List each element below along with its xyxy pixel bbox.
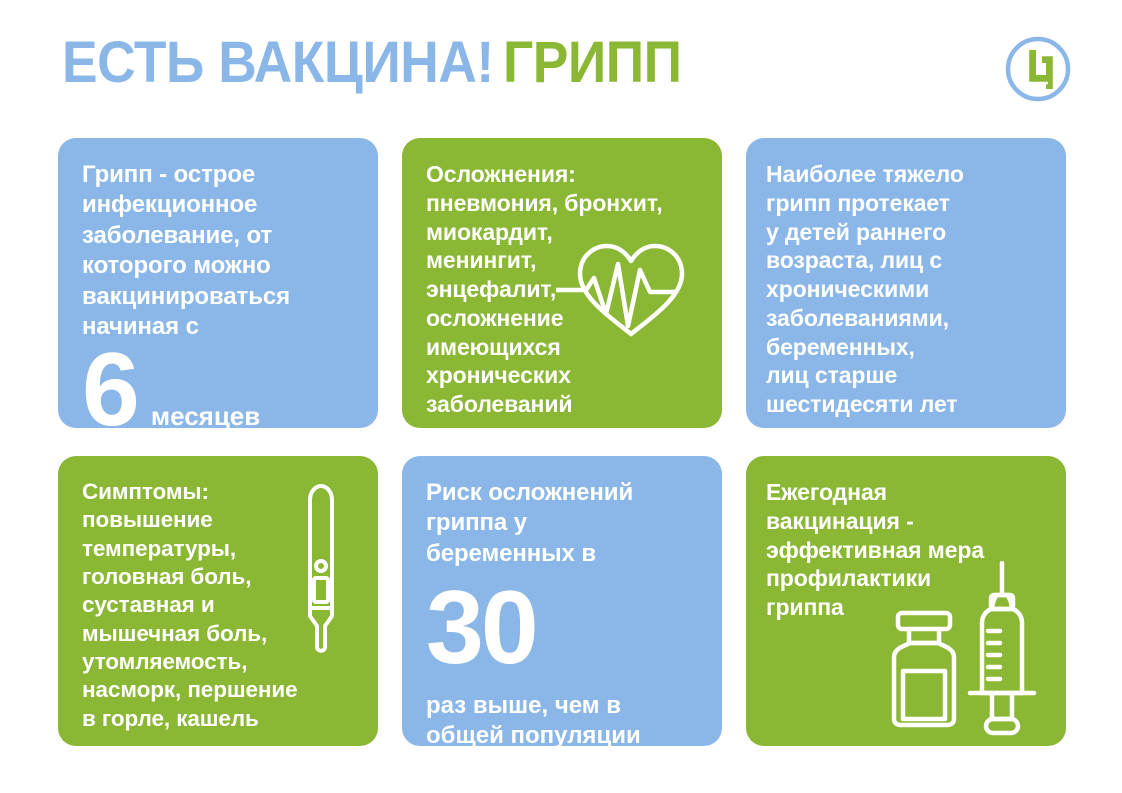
card-symptoms: Симптомы: повышение температуры, головна… bbox=[58, 456, 378, 746]
clinic-monogram-logo bbox=[1002, 33, 1074, 105]
title-text-accent: ГРИПП bbox=[503, 30, 682, 95]
stat-caption: раз выше, чем в общей популяции bbox=[426, 691, 704, 746]
page-title: ЕСТЬ ВАКЦИНА!ГРИПП bbox=[62, 34, 682, 92]
card-high-risk-groups: Наиболее тяжело грипп протекает у детей … bbox=[746, 138, 1066, 428]
title-text-primary: ЕСТЬ ВАКЦИНА! bbox=[62, 30, 494, 95]
card-body-text: Симптомы: повышение температуры, головна… bbox=[82, 478, 360, 733]
info-card-grid: Грипп - острое инфекционное заболевание,… bbox=[58, 138, 1066, 746]
card-influenza-definition: Грипп - острое инфекционное заболевание,… bbox=[58, 138, 378, 428]
stat-30-times: 30 bbox=[426, 581, 704, 677]
page-header: ЕСТЬ ВАКЦИНА!ГРИПП bbox=[0, 0, 1122, 132]
card-body-text: Риск осложнений гриппа у беременных в bbox=[426, 478, 704, 569]
card-body-text: Грипп - острое инфекционное заболевание,… bbox=[82, 160, 360, 343]
card-complications: Осложнения: пневмония, бронхит, миокарди… bbox=[402, 138, 722, 428]
stat-number: 30 bbox=[426, 581, 536, 677]
stat-6-months: 6 месяцев bbox=[82, 343, 360, 428]
card-body-text: Наиболее тяжело грипп протекает у детей … bbox=[766, 160, 1048, 419]
card-body-text: Осложнения: пневмония, бронхит, миокарди… bbox=[426, 160, 704, 419]
card-pregnancy-risk: Риск осложнений гриппа у беременных в 30… bbox=[402, 456, 722, 746]
card-annual-vaccination: Ежегодная вакцинация - эффективная мера … bbox=[746, 456, 1066, 746]
stat-unit: месяцев bbox=[151, 401, 260, 428]
stat-number: 6 bbox=[82, 343, 137, 428]
card-body-text: Ежегодная вакцинация - эффективная мера … bbox=[766, 478, 1048, 622]
